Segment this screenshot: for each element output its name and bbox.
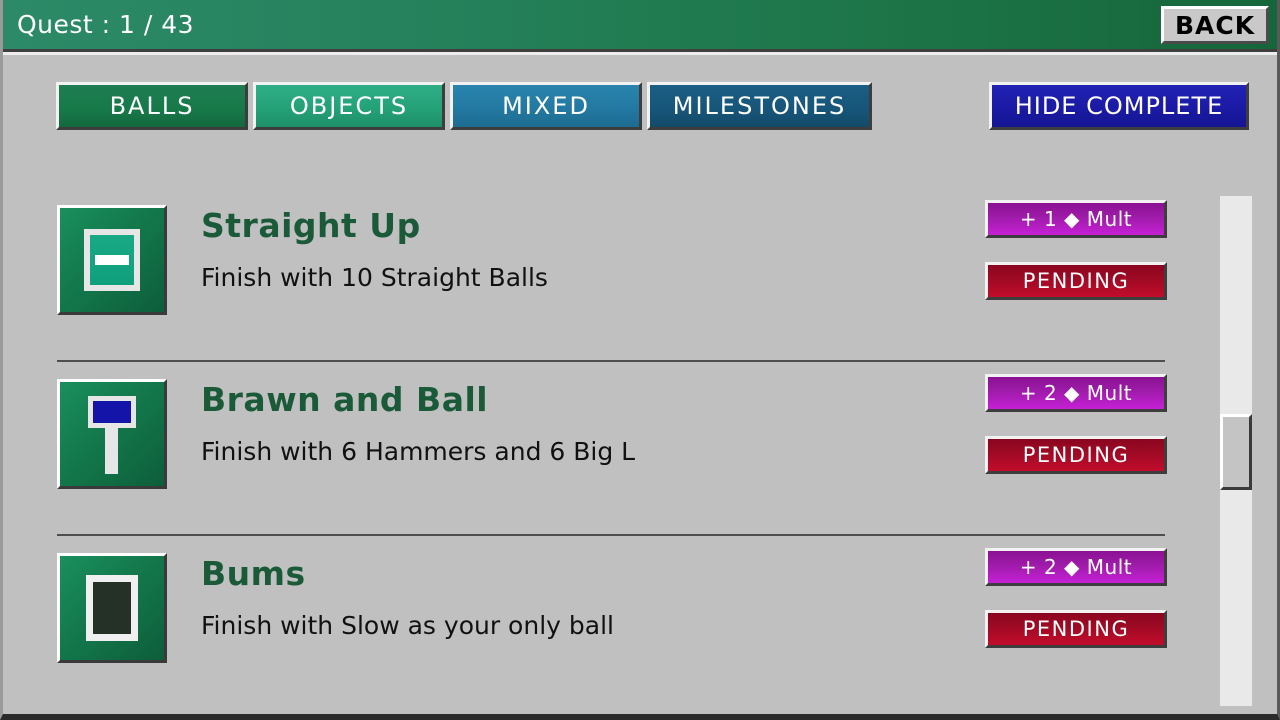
quest-badges: + 2 ◆ Mult PENDING	[985, 548, 1167, 648]
hammer-head	[88, 396, 136, 428]
quest-text: Bums Finish with Slow as your only ball	[201, 554, 614, 642]
quest-text: Straight Up Finish with 10 Straight Ball…	[201, 206, 548, 294]
quest-row[interactable]: Brawn and Ball Finish with 6 Hammers and…	[3, 360, 1203, 534]
quest-description: Finish with 6 Hammers and 6 Big L	[201, 436, 635, 468]
slow-ball-icon	[86, 575, 138, 641]
tab-mixed[interactable]: MIXED	[450, 82, 642, 130]
reward-badge[interactable]: + 2 ◆ Mult	[985, 548, 1167, 586]
reward-badge[interactable]: + 1 ◆ Mult	[985, 200, 1167, 238]
reward-badge[interactable]: + 2 ◆ Mult	[985, 374, 1167, 412]
header-bar: Quest : 1 / 43 BACK	[3, 0, 1277, 52]
hammer-icon	[82, 394, 142, 474]
quest-row[interactable]: Bums Finish with Slow as your only ball …	[3, 534, 1203, 708]
status-badge[interactable]: PENDING	[985, 436, 1167, 474]
status-badge[interactable]: PENDING	[985, 262, 1167, 300]
quest-screen: Quest : 1 / 43 BACK BALLS OBJECTS MIXED …	[0, 0, 1280, 720]
quest-list: Straight Up Finish with 10 Straight Ball…	[3, 186, 1203, 706]
quest-description: Finish with Slow as your only ball	[201, 610, 614, 642]
quest-icon-tile	[57, 553, 167, 663]
scrollbar-track[interactable]	[1220, 196, 1252, 706]
quest-title: Brawn and Ball	[201, 380, 635, 420]
quest-icon-tile	[57, 379, 167, 489]
quest-row[interactable]: Straight Up Finish with 10 Straight Ball…	[3, 186, 1203, 360]
quest-counter: Quest : 1 / 43	[3, 10, 194, 39]
scrollbar-thumb[interactable]	[1220, 414, 1252, 490]
quest-icon-tile	[57, 205, 167, 315]
tab-milestones[interactable]: MILESTONES	[647, 82, 872, 130]
quest-badges: + 2 ◆ Mult PENDING	[985, 374, 1167, 474]
tab-objects[interactable]: OBJECTS	[253, 82, 445, 130]
tab-balls[interactable]: BALLS	[56, 82, 248, 130]
quest-title: Straight Up	[201, 206, 548, 246]
straight-ball-icon	[84, 229, 140, 291]
hide-complete-button[interactable]: HIDE COMPLETE	[989, 82, 1249, 130]
quest-title: Bums	[201, 554, 614, 594]
status-badge[interactable]: PENDING	[985, 610, 1167, 648]
straight-ball-bar	[95, 255, 129, 265]
category-toolbar: BALLS OBJECTS MIXED MILESTONES HIDE COMP…	[3, 82, 1277, 134]
back-button[interactable]: BACK	[1161, 6, 1269, 44]
hammer-handle	[105, 428, 118, 474]
quest-description: Finish with 10 Straight Balls	[201, 262, 548, 294]
quest-text: Brawn and Ball Finish with 6 Hammers and…	[201, 380, 635, 468]
quest-badges: + 1 ◆ Mult PENDING	[985, 200, 1167, 300]
